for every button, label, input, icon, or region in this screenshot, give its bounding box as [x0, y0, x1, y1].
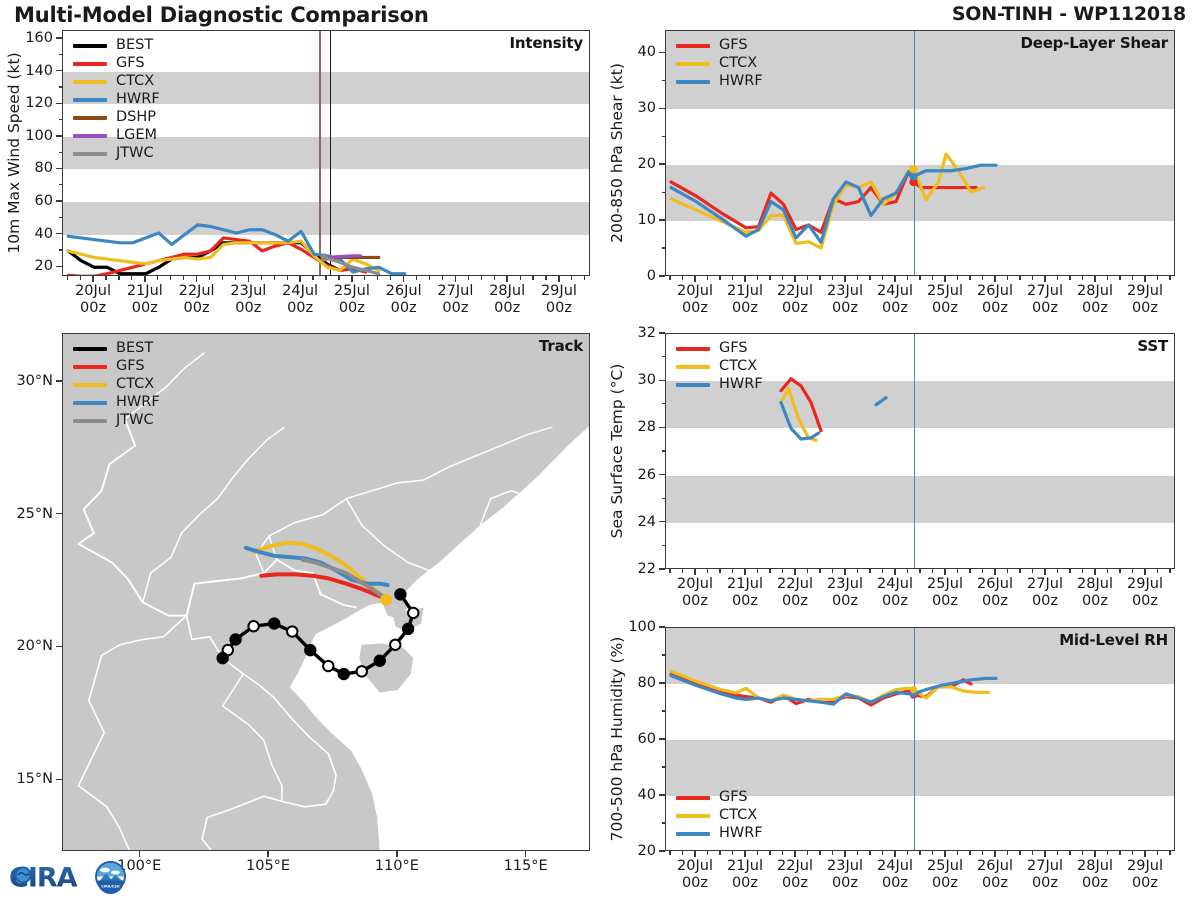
- x-tick: [794, 851, 795, 857]
- x-tick-minor: [1019, 276, 1020, 280]
- x-tick-minor: [1019, 851, 1020, 855]
- legend-item-hwrf: HWRF: [73, 394, 160, 411]
- y-tick-label: 26: [638, 467, 656, 483]
- y-tick: [659, 332, 665, 333]
- y-tick: [56, 135, 62, 136]
- intensity-panel: Intensity BESTGFSCTCXHWRFDSHPLGEMJTWC 20…: [62, 30, 590, 276]
- legend-label-dshp: DSHP: [116, 110, 156, 125]
- legend-label-gfs: GFS: [719, 38, 748, 53]
- x-tick-minor: [312, 276, 313, 280]
- x-tick-minor: [982, 569, 983, 573]
- legend-label-ctcx: CTCX: [116, 74, 154, 89]
- series-hwrf: [671, 165, 996, 242]
- x-tick: [994, 569, 995, 575]
- legend-label-hwrf: HWRF: [719, 74, 763, 89]
- x-tick: [844, 569, 845, 575]
- x-tick-minor: [782, 851, 783, 855]
- x-tick: [1144, 569, 1145, 575]
- x-tick: [1044, 276, 1045, 282]
- track-marker-filled: [395, 589, 405, 599]
- x-tick-label: 29Jul00z: [1127, 858, 1163, 892]
- y-tick-minor: [59, 86, 63, 87]
- x-tick: [455, 276, 456, 282]
- track-endpoint-marker-ctcx: [380, 594, 392, 606]
- analysis-marker-ctcx: [910, 686, 917, 693]
- x-tick-minor: [1007, 569, 1008, 573]
- y-tick-label: 80: [35, 160, 53, 176]
- x-tick-label: 22Jul00z: [777, 283, 813, 317]
- x-tick: [506, 276, 507, 282]
- x-tick-minor: [545, 276, 546, 280]
- x-tick-minor: [719, 276, 720, 280]
- y-tick-label: 22: [638, 561, 656, 577]
- legend-label-hwrf: HWRF: [116, 92, 160, 107]
- x-tick-label: 22Jul00z: [777, 858, 813, 892]
- y-tick-label: 15°N: [16, 771, 53, 787]
- x-tick-minor: [882, 569, 883, 573]
- legend-item-gfs: GFS: [73, 55, 160, 72]
- y-tick-label: 20: [638, 843, 656, 859]
- y-tick: [56, 380, 62, 381]
- x-tick-minor: [105, 276, 106, 280]
- x-tick: [894, 276, 895, 282]
- x-tick-label: 24Jul00z: [877, 576, 913, 610]
- x-tick-minor: [261, 276, 262, 280]
- x-tick: [1144, 276, 1145, 282]
- x-tick-minor: [819, 569, 820, 573]
- analysis-marker-ctcx: [909, 165, 917, 173]
- x-tick-label: 23Jul00z: [827, 858, 863, 892]
- x-tick: [694, 851, 695, 857]
- legend-swatch-gfs: [73, 62, 107, 66]
- x-tick-minor: [1069, 276, 1070, 280]
- x-tick-minor: [919, 569, 920, 573]
- x-tick: [1094, 276, 1095, 282]
- legend-swatch-best: [73, 44, 107, 48]
- x-tick: [694, 276, 695, 282]
- x-tick-minor: [857, 851, 858, 855]
- x-tick-minor: [782, 276, 783, 280]
- x-tick-minor: [442, 276, 443, 280]
- y-tick: [659, 427, 665, 428]
- x-tick-minor: [682, 569, 683, 573]
- legend-swatch-jtwc: [73, 152, 107, 156]
- y-tick-label: 24: [638, 514, 656, 530]
- x-tick-minor: [1107, 569, 1108, 573]
- y-tick-minor: [662, 192, 666, 193]
- legend-label-hwrf: HWRF: [719, 377, 763, 392]
- x-tick-label: 27Jul00z: [1027, 283, 1063, 317]
- shear-legend: GFSCTCXHWRF: [676, 37, 763, 90]
- x-tick-label: 23Jul00z: [827, 576, 863, 610]
- legend-item-jtwc: JTWC: [73, 412, 160, 429]
- x-tick-minor: [1082, 569, 1083, 573]
- y-tick-label: 30: [638, 372, 656, 388]
- x-tick-minor: [183, 276, 184, 280]
- track-panel-label: Track: [539, 337, 583, 355]
- x-tick-label: 20Jul00z: [75, 283, 111, 317]
- y-tick: [659, 52, 665, 53]
- x-tick-minor: [719, 851, 720, 855]
- sst-panel: SST GFSCTCXHWRF 222426283032 20Jul00z21J…: [665, 333, 1175, 569]
- legend-label-hwrf: HWRF: [116, 395, 160, 410]
- x-tick-minor: [1169, 276, 1170, 280]
- x-tick-minor: [907, 851, 908, 855]
- legend-swatch-lgem: [73, 134, 107, 138]
- y-tick-label: 40: [35, 226, 53, 242]
- x-tick-minor: [67, 276, 68, 280]
- x-tick-label: 21Jul00z: [727, 283, 763, 317]
- y-tick-label: 40: [638, 787, 656, 803]
- sst-panel-label: SST: [1137, 337, 1168, 355]
- x-tick-minor: [757, 569, 758, 573]
- y-tick-minor: [662, 450, 666, 451]
- legend-swatch-hwrf: [73, 98, 107, 102]
- x-tick: [267, 851, 268, 857]
- y-tick-label: 20°N: [16, 638, 53, 654]
- x-tick-minor: [969, 851, 970, 855]
- x-tick-minor: [416, 276, 417, 280]
- x-tick-minor: [1169, 569, 1170, 573]
- legend-item-best: BEST: [73, 37, 160, 54]
- legend-swatch-ctcx: [73, 383, 107, 387]
- legend-label-jtwc: JTWC: [116, 146, 154, 161]
- x-tick-minor: [732, 851, 733, 855]
- x-tick-minor: [819, 276, 820, 280]
- legend-label-lgem: LGEM: [116, 128, 157, 143]
- x-tick-minor: [907, 569, 908, 573]
- x-tick-minor: [1119, 851, 1120, 855]
- y-tick-label: 120: [25, 95, 53, 111]
- y-tick: [659, 794, 665, 795]
- shear-y-axis-title: 200-850 hPa Shear (kt): [608, 63, 626, 243]
- x-tick-label: 20Jul00z: [677, 576, 713, 610]
- x-tick: [403, 276, 404, 282]
- y-tick: [56, 646, 62, 647]
- x-tick-label: 28Jul00z: [1077, 858, 1113, 892]
- x-tick: [525, 851, 526, 857]
- intensity-panel-label: Intensity: [509, 34, 583, 52]
- x-tick-minor: [390, 276, 391, 280]
- x-tick-minor: [757, 851, 758, 855]
- x-tick-label: 28Jul00z: [489, 283, 525, 317]
- x-tick-minor: [832, 851, 833, 855]
- y-tick-minor: [662, 766, 666, 767]
- y-tick-label: 80: [638, 675, 656, 691]
- x-tick: [844, 276, 845, 282]
- x-tick: [944, 851, 945, 857]
- x-tick-minor: [807, 569, 808, 573]
- y-tick-label: 20: [35, 258, 53, 274]
- x-tick-label: 20Jul00z: [677, 858, 713, 892]
- y-tick: [56, 168, 62, 169]
- track-panel: Track BESTGFSCTCXHWRFJTWC 15°N20°N25°N30…: [62, 333, 590, 851]
- x-tick-minor: [80, 276, 81, 280]
- x-tick-minor: [919, 851, 920, 855]
- x-tick-label: 21Jul00z: [727, 858, 763, 892]
- y-tick-minor: [662, 356, 666, 357]
- x-tick-minor: [907, 276, 908, 280]
- series-lgem: [324, 256, 360, 258]
- storm-title: SON-TINH - WP112018: [952, 3, 1186, 25]
- x-tick-label: 23Jul00z: [230, 283, 266, 317]
- y-tick-label: 0: [647, 268, 656, 284]
- legend-item-hwrf: HWRF: [73, 91, 160, 108]
- x-tick-minor: [857, 276, 858, 280]
- y-tick-minor: [662, 403, 666, 404]
- y-tick-minor: [59, 54, 63, 55]
- y-tick-minor: [662, 654, 666, 655]
- x-tick-minor: [1082, 851, 1083, 855]
- x-tick: [558, 276, 559, 282]
- rh-panel-label: Mid-Level RH: [1059, 631, 1168, 649]
- legend-swatch-ctcx: [676, 62, 710, 66]
- x-tick-minor: [769, 851, 770, 855]
- y-tick-minor: [662, 498, 666, 499]
- x-tick-minor: [1032, 569, 1033, 573]
- track-marker-filled: [403, 624, 413, 634]
- x-tick-minor: [494, 276, 495, 280]
- x-tick-minor: [782, 569, 783, 573]
- x-tick-minor: [832, 276, 833, 280]
- x-tick: [144, 276, 145, 282]
- x-tick-minor: [1132, 851, 1133, 855]
- x-tick-minor: [222, 276, 223, 280]
- legend-item-gfs: GFS: [73, 358, 160, 375]
- shear-panel-label: Deep-Layer Shear: [1020, 34, 1168, 52]
- legend-label-ctcx: CTCX: [116, 377, 154, 392]
- x-tick-minor: [957, 569, 958, 573]
- y-tick-minor: [662, 822, 666, 823]
- track-marker-filled: [339, 669, 349, 679]
- track-marker-filled: [230, 634, 240, 644]
- y-tick: [56, 37, 62, 38]
- y-tick-minor: [59, 217, 63, 218]
- legend-swatch-hwrf: [676, 832, 710, 836]
- x-tick-minor: [532, 276, 533, 280]
- y-tick: [659, 108, 665, 109]
- x-tick-minor: [274, 276, 275, 280]
- x-tick-minor: [1032, 276, 1033, 280]
- y-tick-label: 60: [35, 193, 53, 209]
- y-tick-minor: [59, 184, 63, 185]
- x-tick: [248, 276, 249, 282]
- x-tick-minor: [832, 569, 833, 573]
- legend-item-gfs: GFS: [676, 789, 763, 806]
- y-tick: [659, 474, 665, 475]
- x-tick-minor: [757, 276, 758, 280]
- x-tick: [894, 851, 895, 857]
- x-tick-minor: [131, 276, 132, 280]
- x-tick-label: 29Jul00z: [541, 283, 577, 317]
- legend-swatch-best: [73, 347, 107, 351]
- legend-label-gfs: GFS: [719, 790, 748, 805]
- x-tick-minor: [287, 276, 288, 280]
- track-marker-filled: [305, 645, 315, 655]
- x-tick-minor: [719, 569, 720, 573]
- x-tick-minor: [118, 276, 119, 280]
- legend-label-best: BEST: [116, 38, 153, 53]
- legend-item-ctcx: CTCX: [676, 55, 763, 72]
- x-tick-minor: [807, 851, 808, 855]
- y-tick: [56, 200, 62, 201]
- x-tick-label: 110°E: [375, 858, 419, 875]
- x-tick: [299, 276, 300, 282]
- x-tick: [894, 569, 895, 575]
- legend-item-hwrf: HWRF: [676, 376, 763, 393]
- x-tick: [794, 276, 795, 282]
- y-tick-label: 140: [25, 63, 53, 79]
- svg-text:CIRA/CSU: CIRA/CSU: [101, 885, 120, 889]
- x-tick-minor: [325, 276, 326, 280]
- legend-label-ctcx: CTCX: [719, 808, 757, 823]
- x-tick-label: 25Jul00z: [927, 858, 963, 892]
- legend-item-jtwc: JTWC: [73, 145, 160, 162]
- legend-item-lgem: LGEM: [73, 127, 160, 144]
- sst-legend: GFSCTCXHWRF: [676, 340, 763, 393]
- x-tick-minor: [682, 276, 683, 280]
- y-tick-label: 40: [638, 44, 656, 60]
- x-tick-label: 25Jul00z: [927, 283, 963, 317]
- track-marker-filled: [269, 618, 279, 628]
- y-tick: [659, 521, 665, 522]
- x-tick-minor: [1119, 276, 1120, 280]
- sst-y-axis-title: Sea Surface Temp (°C): [608, 364, 626, 539]
- legend-swatch-hwrf: [676, 80, 710, 84]
- legend-label-gfs: GFS: [719, 341, 748, 356]
- x-tick-label: 24Jul00z: [877, 858, 913, 892]
- x-tick-minor: [1057, 276, 1058, 280]
- x-tick-label: 21Jul00z: [127, 283, 163, 317]
- legend-item-best: BEST: [73, 340, 160, 357]
- x-tick: [1144, 851, 1145, 857]
- x-tick: [196, 276, 197, 282]
- x-tick-minor: [932, 276, 933, 280]
- y-tick: [659, 219, 665, 220]
- y-tick: [659, 626, 665, 627]
- legend-item-gfs: GFS: [676, 340, 763, 357]
- y-tick-minor: [59, 119, 63, 120]
- y-tick-minor: [59, 152, 63, 153]
- x-tick-label: 115°E: [504, 858, 548, 875]
- x-tick-minor: [807, 276, 808, 280]
- x-tick: [1094, 569, 1095, 575]
- x-tick-label: 25Jul00z: [927, 576, 963, 610]
- x-tick-label: 27Jul00z: [1027, 858, 1063, 892]
- track-legend: BESTGFSCTCXHWRFJTWC: [73, 340, 160, 429]
- x-tick-minor: [1032, 851, 1033, 855]
- legend-swatch-gfs: [676, 44, 710, 48]
- track-marker-open: [390, 640, 400, 650]
- x-tick-label: 22Jul00z: [777, 576, 813, 610]
- legend-swatch-ctcx: [676, 365, 710, 369]
- x-tick-minor: [932, 569, 933, 573]
- x-tick-minor: [1057, 569, 1058, 573]
- y-tick-minor: [662, 136, 666, 137]
- x-tick-label: 29Jul00z: [1127, 576, 1163, 610]
- x-tick-minor: [882, 851, 883, 855]
- x-tick-minor: [338, 276, 339, 280]
- series-hwrf: [876, 398, 886, 405]
- shear-panel: Deep-Layer Shear GFSCTCXHWRF 010203040 2…: [665, 30, 1175, 276]
- y-tick: [56, 70, 62, 71]
- x-tick-minor: [1132, 276, 1133, 280]
- legend-label-gfs: GFS: [116, 359, 145, 374]
- x-tick-minor: [364, 276, 365, 280]
- x-tick-label: 21Jul00z: [727, 576, 763, 610]
- dashboard-root: Multi-Model Diagnostic Comparison SON-TI…: [0, 0, 1200, 900]
- x-tick-minor: [235, 276, 236, 280]
- x-tick-minor: [429, 276, 430, 280]
- cira-logo: CIRA CIRA/CSU: [8, 858, 128, 898]
- x-tick-label: 27Jul00z: [437, 283, 473, 317]
- legend-item-dshp: DSHP: [73, 109, 160, 126]
- x-tick-minor: [468, 276, 469, 280]
- legend-swatch-gfs: [73, 365, 107, 369]
- x-tick: [396, 851, 397, 857]
- x-tick: [694, 569, 695, 575]
- x-tick-minor: [882, 276, 883, 280]
- intensity-y-axis-title: 10m Max Wind Speed (kt): [5, 52, 23, 253]
- x-tick-label: 29Jul00z: [1127, 283, 1163, 317]
- x-tick: [944, 569, 945, 575]
- x-tick: [1044, 851, 1045, 857]
- track-marker-open: [248, 621, 258, 631]
- x-tick-label: 26Jul00z: [977, 858, 1013, 892]
- x-tick-minor: [969, 569, 970, 573]
- y-tick-label: 28: [638, 419, 656, 435]
- x-tick-label: 28Jul00z: [1077, 283, 1113, 317]
- y-tick-label: 25°N: [16, 506, 53, 522]
- x-tick-minor: [1007, 276, 1008, 280]
- y-tick-label: 32: [638, 325, 656, 341]
- x-tick-label: 20Jul00z: [677, 283, 713, 317]
- intensity-legend: BESTGFSCTCXHWRFDSHPLGEMJTWC: [73, 37, 160, 162]
- y-tick-label: 60: [638, 731, 656, 747]
- legend-label-gfs: GFS: [116, 56, 145, 71]
- x-tick-minor: [1157, 569, 1158, 573]
- legend-swatch-ctcx: [73, 80, 107, 84]
- legend-item-hwrf: HWRF: [676, 73, 763, 90]
- x-tick-label: 105°E: [246, 858, 290, 875]
- series-ctcx: [671, 154, 984, 248]
- y-tick-minor: [662, 80, 666, 81]
- y-tick: [659, 163, 665, 164]
- x-tick-label: 25Jul00z: [334, 283, 370, 317]
- analysis-marker-hwrf: [909, 172, 917, 180]
- x-tick: [944, 276, 945, 282]
- x-tick-minor: [1107, 276, 1108, 280]
- x-tick-minor: [869, 851, 870, 855]
- x-tick-minor: [1069, 851, 1070, 855]
- x-tick-minor: [769, 569, 770, 573]
- rh-legend: GFSCTCXHWRF: [676, 789, 763, 842]
- x-tick-minor: [669, 569, 670, 573]
- legend-item-ctcx: CTCX: [676, 358, 763, 375]
- y-tick-minor: [59, 249, 63, 250]
- track-marker-open: [357, 666, 367, 676]
- page-title: Multi-Model Diagnostic Comparison: [14, 3, 429, 27]
- x-tick-minor: [682, 851, 683, 855]
- x-tick-minor: [1057, 851, 1058, 855]
- y-tick: [56, 779, 62, 780]
- legend-swatch-hwrf: [73, 401, 107, 405]
- track-marker-open: [408, 608, 418, 618]
- x-tick-label: 24Jul00z: [877, 283, 913, 317]
- legend-item-ctcx: CTCX: [73, 73, 160, 90]
- x-tick: [994, 276, 995, 282]
- legend-item-gfs: GFS: [676, 37, 763, 54]
